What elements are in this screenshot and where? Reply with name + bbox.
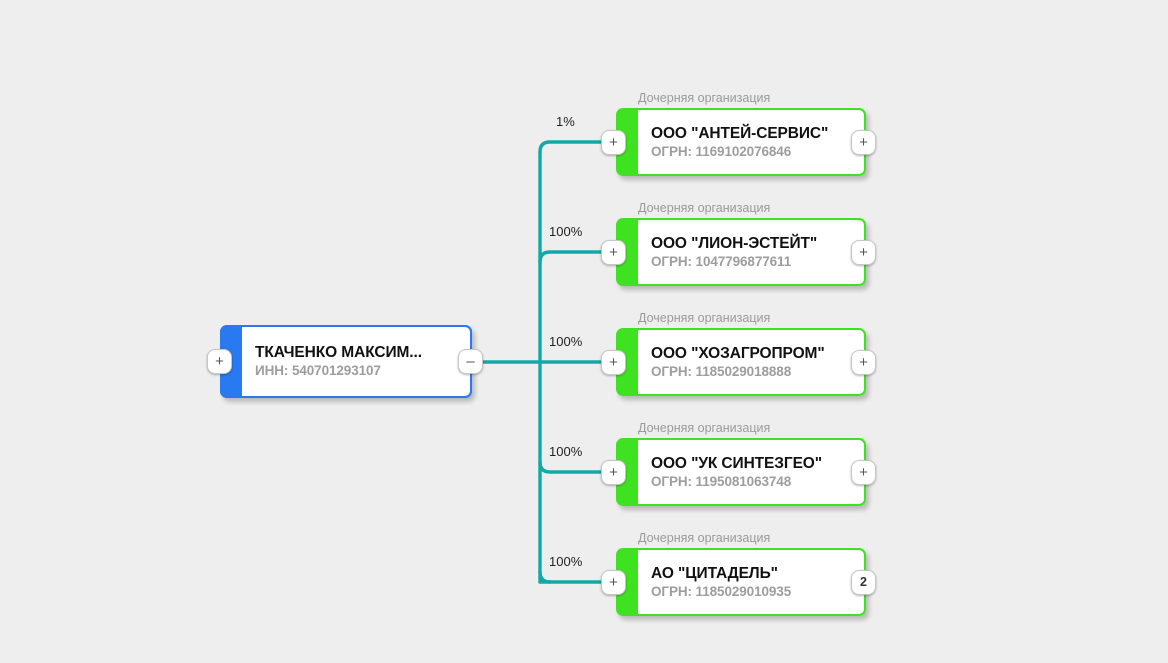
child-title: ООО "АНТЕЙ-СЕРВИС" xyxy=(651,124,864,143)
child-title: ООО "ЛИОН-ЭСТЕЙТ" xyxy=(651,234,864,253)
node-child-1[interactable]: ООО "АНТЕЙ-СЕРВИС" ОГРН: 1169102076846 xyxy=(616,108,866,176)
child-3-expand-right-button[interactable]: + xyxy=(851,350,876,375)
edge-connectors xyxy=(0,0,1168,663)
share-label-2: 100% xyxy=(549,224,582,239)
count-badge-value: 2 xyxy=(860,576,867,589)
child-subtitle: ОГРН: 1047796877611 xyxy=(651,253,864,271)
child-title: ООО "УК СИНТЕЗГЕО" xyxy=(651,454,864,473)
node-kind-label-1: Дочерняя организация xyxy=(638,91,770,105)
root-subtitle: ИНН: 540701293107 xyxy=(255,362,470,380)
child-2-expand-left-button[interactable]: + xyxy=(601,240,626,265)
child-5-expand-left-button[interactable]: + xyxy=(601,570,626,595)
plus-icon: + xyxy=(609,575,618,590)
child-1-expand-right-button[interactable]: + xyxy=(851,130,876,155)
child-card-body: ООО "УК СИНТЕЗГЕО" ОГРН: 1195081063748 xyxy=(638,438,866,506)
plus-icon: + xyxy=(859,245,868,260)
child-card-body: ООО "ХОЗАГРОПРОМ" ОГРН: 1185029018888 xyxy=(638,328,866,396)
graph-canvas: 1% 100% 100% 100% 100% ТКАЧЕНКО МАКСИМ..… xyxy=(0,0,1168,663)
plus-icon: + xyxy=(859,355,868,370)
node-child-4[interactable]: ООО "УК СИНТЕЗГЕО" ОГРН: 1195081063748 xyxy=(616,438,866,506)
node-root[interactable]: ТКАЧЕНКО МАКСИМ... ИНН: 540701293107 xyxy=(220,325,472,398)
child-4-expand-left-button[interactable]: + xyxy=(601,460,626,485)
child-card-body: ООО "ЛИОН-ЭСТЕЙТ" ОГРН: 1047796877611 xyxy=(638,218,866,286)
node-kind-label-4: Дочерняя организация xyxy=(638,421,770,435)
plus-icon: + xyxy=(609,355,618,370)
share-label-5: 100% xyxy=(549,554,582,569)
node-kind-label-3: Дочерняя организация xyxy=(638,311,770,325)
root-expand-left-button[interactable]: + xyxy=(207,349,232,374)
plus-icon: + xyxy=(609,245,618,260)
share-label-4: 100% xyxy=(549,444,582,459)
node-kind-label-2: Дочерняя организация xyxy=(638,201,770,215)
child-5-child-count-badge[interactable]: 2 xyxy=(851,570,876,595)
child-subtitle: ОГРН: 1169102076846 xyxy=(651,143,864,161)
child-2-expand-right-button[interactable]: + xyxy=(851,240,876,265)
root-title: ТКАЧЕНКО МАКСИМ... xyxy=(255,343,470,362)
child-card-body: АО "ЦИТАДЕЛЬ" ОГРН: 1185029010935 xyxy=(638,548,866,616)
child-subtitle: ОГРН: 1195081063748 xyxy=(651,473,864,491)
child-card-body: ООО "АНТЕЙ-СЕРВИС" ОГРН: 1169102076846 xyxy=(638,108,866,176)
root-collapse-right-button[interactable]: – xyxy=(458,349,483,374)
child-subtitle: ОГРН: 1185029010935 xyxy=(651,583,864,601)
node-child-3[interactable]: ООО "ХОЗАГРОПРОМ" ОГРН: 1185029018888 xyxy=(616,328,866,396)
edge-branch-5-corner xyxy=(540,572,550,582)
child-4-expand-right-button[interactable]: + xyxy=(851,460,876,485)
child-title: АО "ЦИТАДЕЛЬ" xyxy=(651,564,864,583)
node-child-2[interactable]: ООО "ЛИОН-ЭСТЕЙТ" ОГРН: 1047796877611 xyxy=(616,218,866,286)
node-kind-label-5: Дочерняя организация xyxy=(638,531,770,545)
root-card-body: ТКАЧЕНКО МАКСИМ... ИНН: 540701293107 xyxy=(242,325,472,398)
child-1-expand-left-button[interactable]: + xyxy=(601,130,626,155)
plus-icon: + xyxy=(859,135,868,150)
plus-icon: + xyxy=(609,135,618,150)
share-label-1: 1% xyxy=(556,114,575,129)
child-subtitle: ОГРН: 1185029018888 xyxy=(651,363,864,381)
plus-icon: + xyxy=(859,465,868,480)
plus-icon: + xyxy=(609,465,618,480)
child-3-expand-left-button[interactable]: + xyxy=(601,350,626,375)
share-label-3: 100% xyxy=(549,334,582,349)
minus-icon: – xyxy=(466,354,474,369)
node-child-5[interactable]: АО "ЦИТАДЕЛЬ" ОГРН: 1185029010935 xyxy=(616,548,866,616)
child-title: ООО "ХОЗАГРОПРОМ" xyxy=(651,344,864,363)
plus-icon: + xyxy=(215,354,224,369)
